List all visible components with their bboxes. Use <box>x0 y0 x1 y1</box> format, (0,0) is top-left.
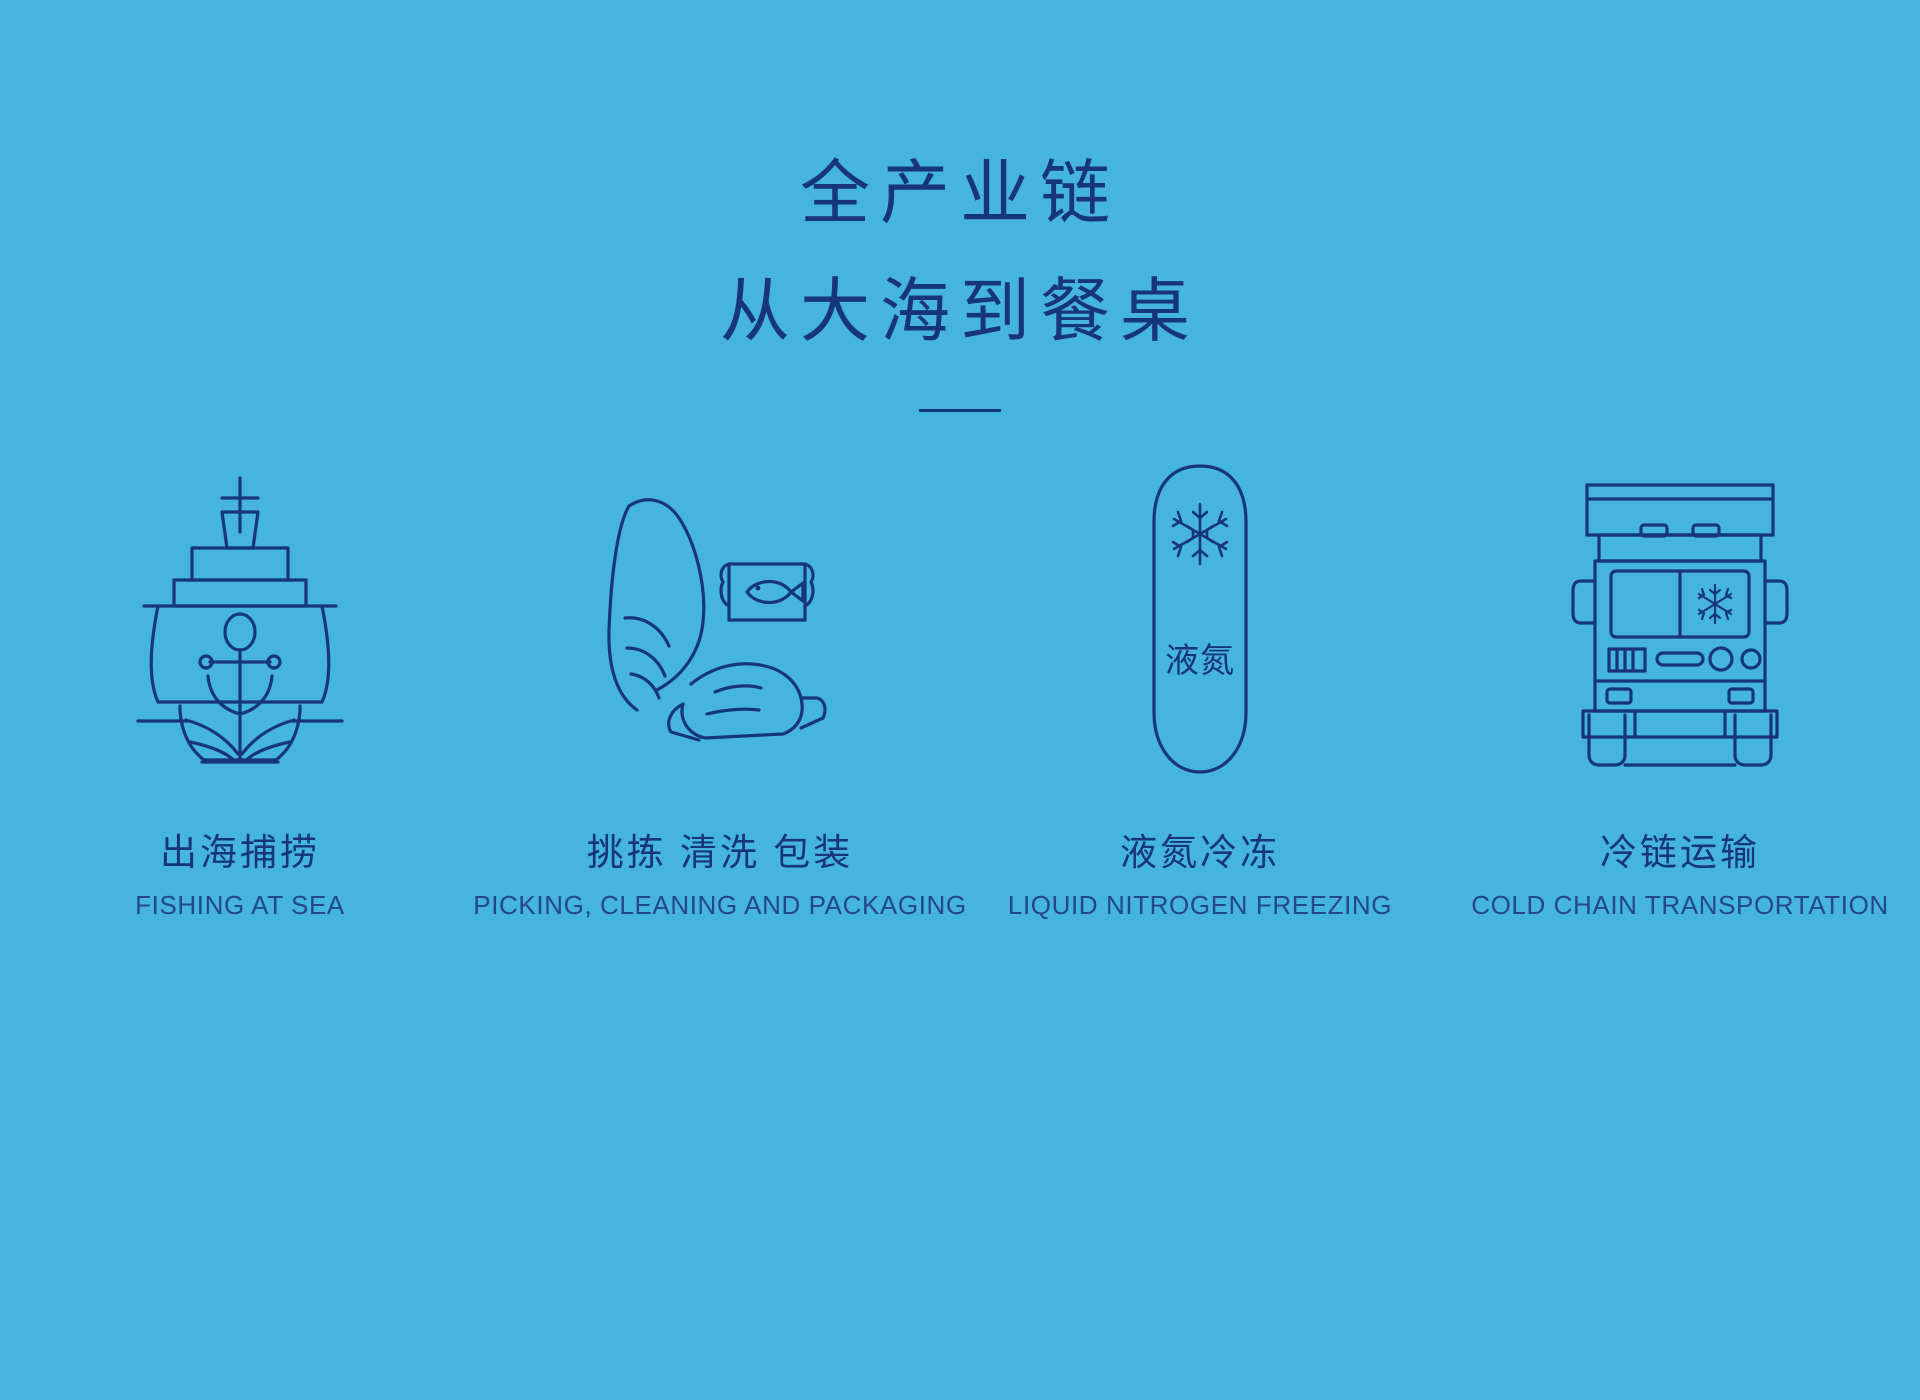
step-label-cn: 液氮冷冻 <box>1008 822 1392 876</box>
liquid-nitrogen-capsule-icon: 液氮 <box>1140 460 1260 780</box>
label-group: 液氮冷冻 LIQUID NITROGEN FREEZING <box>1008 822 1392 921</box>
icon-container <box>1565 440 1795 800</box>
process-step-transport[interactable]: 冷链运输 COLD CHAIN TRANSPORTATION <box>1440 440 1920 921</box>
icon-container <box>595 440 845 800</box>
refrigerated-truck-icon <box>1565 465 1795 775</box>
icon-container <box>130 440 350 800</box>
process-step-freezing[interactable]: 液氮 液氮冷冻 LIQUID NITROGEN FREEZING <box>960 440 1440 921</box>
title-divider <box>919 409 1001 412</box>
step-label-cn: 挑拣 清洗 包装 <box>473 822 966 876</box>
step-label-en: LIQUID NITROGEN FREEZING <box>1008 890 1392 921</box>
step-label-en: PICKING, CLEANING AND PACKAGING <box>473 890 966 921</box>
capsule-text: 液氮 <box>1165 642 1235 680</box>
fishing-boat-anchor-icon <box>130 470 350 770</box>
process-step-fishing[interactable]: 出海捕捞 FISHING AT SEA <box>0 440 480 921</box>
label-group: 冷链运输 COLD CHAIN TRANSPORTATION <box>1471 822 1889 921</box>
step-label-cn: 出海捕捞 <box>135 822 345 876</box>
snowflake-icon <box>1173 504 1227 564</box>
step-label-en: COLD CHAIN TRANSPORTATION <box>1471 890 1889 921</box>
page-root: 全产业链 从大海到餐桌 <box>0 0 1920 1400</box>
page-title-line-2: 从大海到餐桌 <box>0 268 1920 358</box>
snowflake-icon <box>1699 585 1731 623</box>
process-columns: 出海捕捞 FISHING AT SEA <box>0 440 1920 921</box>
page-header: 全产业链 从大海到餐桌 <box>0 150 1920 412</box>
icon-container: 液氮 <box>1140 440 1260 800</box>
step-label-en: FISHING AT SEA <box>135 890 345 921</box>
label-group: 挑拣 清洗 包装 PICKING, CLEANING AND PACKAGING <box>473 822 966 921</box>
page-title-line-1: 全产业链 <box>0 150 1920 240</box>
label-group: 出海捕捞 FISHING AT SEA <box>135 822 345 921</box>
step-label-cn: 冷链运输 <box>1471 822 1889 876</box>
process-step-packaging[interactable]: 挑拣 清洗 包装 PICKING, CLEANING AND PACKAGING <box>480 440 960 921</box>
hands-fish-package-icon <box>595 470 845 770</box>
